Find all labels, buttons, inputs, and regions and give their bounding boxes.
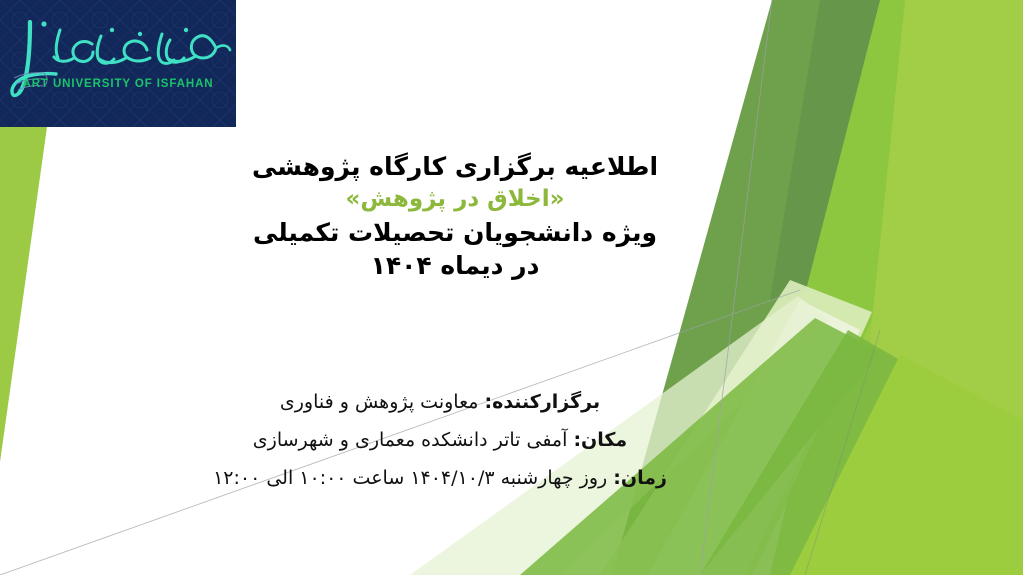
announcement-title-block: اطلاعیه برگزاری کارگاه پژوهشی «اخلاق در … [155,150,755,282]
detail-row-organizer: برگزارکننده: معاونت پژوهش و فناوری [120,383,760,421]
title-line-date: در دیماه ۱۴۰۴ [155,249,755,282]
detail-value-location: آمفی تاتر دانشکده معماری و شهرسازی [253,429,568,451]
detail-label-time: زمان: [613,467,667,489]
title-line-workshop-name: «اخلاق در پژوهش» [155,183,755,216]
facet-shape [770,0,1023,575]
facet-shape [0,127,47,462]
facet-shape [770,0,880,300]
detail-row-location: مکان: آمفی تاتر دانشکده معماری و شهرسازی [120,421,760,459]
facet-shape [846,0,1023,575]
logo-english-title: ART UNIVERSITY OF ISFAHAN [0,78,236,90]
facet-hairline [805,330,880,575]
detail-value-organizer: معاونت پژوهش و فناوری [280,391,479,413]
slide-canvas: ART UNIVERSITY OF ISFAHAN اطلاعیه برگزار… [0,0,1023,575]
announcement-details-block: برگزارکننده: معاونت پژوهش و فناوری مکان:… [120,383,760,497]
title-line-1: اطلاعیه برگزاری کارگاه پژوهشی [155,150,755,183]
detail-label-location: مکان: [573,429,627,451]
detail-value-time: روز چهارشنبه ۱۴۰۴/۱۰/۳ ساعت ۱۰:۰۰ الی ۱۲… [213,467,607,489]
nastaliq-wordmark-icon [0,0,236,127]
detail-row-time: زمان: روز چهارشنبه ۱۴۰۴/۱۰/۳ ساعت ۱۰:۰۰ … [120,459,760,497]
university-logo-block: ART UNIVERSITY OF ISFAHAN [0,0,236,127]
detail-label-organizer: برگزارکننده: [485,391,601,413]
title-line-audience: ویژه دانشجویان تحصیلات تکمیلی [155,216,755,249]
facet-shape [790,355,1023,575]
